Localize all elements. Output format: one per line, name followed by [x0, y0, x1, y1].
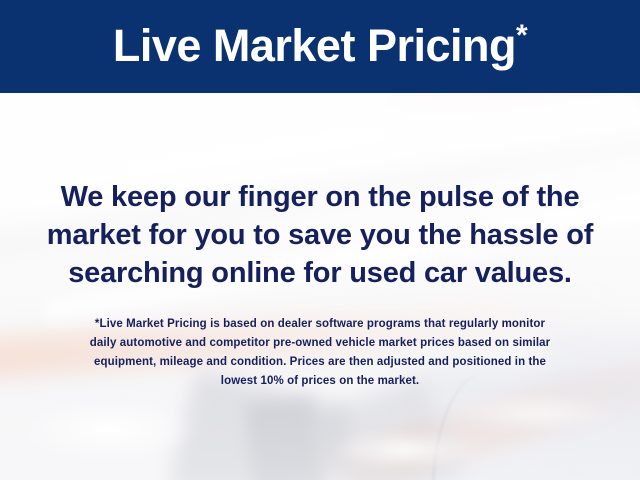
headline: We keep our finger on the pulse of the m…	[0, 178, 640, 292]
page-title: Live Market Pricing*	[113, 23, 527, 71]
header-band: Live Market Pricing*	[0, 0, 640, 93]
disclaimer-line: equipment, mileage and condition. Prices…	[26, 353, 614, 372]
page-title-text: Live Market Pricing	[113, 20, 516, 71]
disclaimer-line: *Live Market Pricing is based on dealer …	[26, 315, 614, 334]
disclaimer-line: lowest 10% of prices on the market.	[26, 372, 614, 391]
disclaimer-line: daily automotive and competitor pre-owne…	[26, 334, 614, 353]
content-area: We keep our finger on the pulse of the m…	[0, 93, 640, 480]
asterisk-icon: *	[516, 19, 527, 52]
headline-line: We keep our finger on the pulse of the	[0, 178, 640, 216]
live-market-pricing-banner: Live Market Pricing* We keep our finger …	[0, 0, 640, 480]
headline-line: searching online for used car values.	[0, 254, 640, 292]
headline-line: market for you to save you the hassle of	[0, 216, 640, 254]
disclaimer-text: *Live Market Pricing is based on dealer …	[26, 315, 614, 391]
